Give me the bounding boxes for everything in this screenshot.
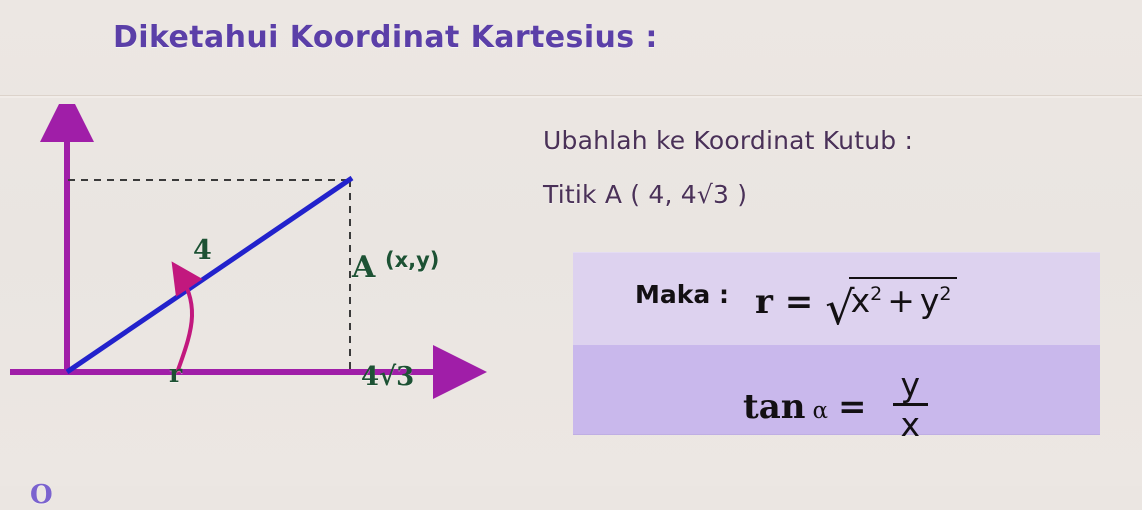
radius-vector — [67, 178, 352, 372]
angle-arc — [176, 268, 192, 370]
label-origin: O — [30, 480, 53, 510]
cartesian-diagram: 4 A (x,y) 4√3 r O — [0, 104, 520, 464]
formula-radius: r =√x2+y2 — [755, 277, 957, 331]
point-statement: Titik A ( 4, 4√3 ) — [543, 180, 747, 209]
fraction-denominator: x — [893, 408, 929, 441]
fraction-y-over-x: yx — [893, 369, 929, 441]
formula-box-tangent: tanα=yx — [573, 345, 1100, 435]
label-horizontal-length: 4 — [193, 235, 212, 266]
angle-alpha-symbol: α — [812, 398, 828, 424]
radicand-base-x: x — [851, 281, 871, 320]
slide-canvas: Diketahui Koordinat Kartesius : — [0, 0, 1142, 486]
radicand-base-y: y — [920, 281, 940, 320]
header-divider-highlight — [0, 96, 1142, 98]
formula-box-radius: Maka : r =√x2+y2 — [573, 252, 1100, 345]
formula-tangent-lhs: tan — [743, 387, 805, 427]
formula-tangent: tanα=yx — [743, 373, 928, 445]
formula-radius-lhs: r = — [755, 282, 813, 322]
radicand: x2+y2 — [849, 277, 958, 320]
radical-group: √x2+y2 — [825, 277, 957, 331]
page-title: Diketahui Koordinat Kartesius : — [113, 20, 658, 55]
radicand-exponent-x: 2 — [870, 283, 882, 305]
label-point-coordinates: (x,y) — [385, 248, 439, 272]
label-radius-r: r — [169, 359, 182, 388]
diagram-svg — [0, 104, 520, 464]
label-point-a: A — [352, 250, 375, 285]
radicand-operator: + — [887, 281, 915, 320]
instruction-line-1: Ubahlah ke Koordinat Kutub : — [543, 126, 913, 155]
fraction-numerator: y — [893, 369, 929, 401]
label-vertical-length: 4√3 — [361, 362, 414, 392]
radicand-exponent-y: 2 — [939, 283, 951, 305]
formula-tangent-equals: = — [838, 387, 867, 427]
maka-label: Maka : — [635, 280, 729, 309]
